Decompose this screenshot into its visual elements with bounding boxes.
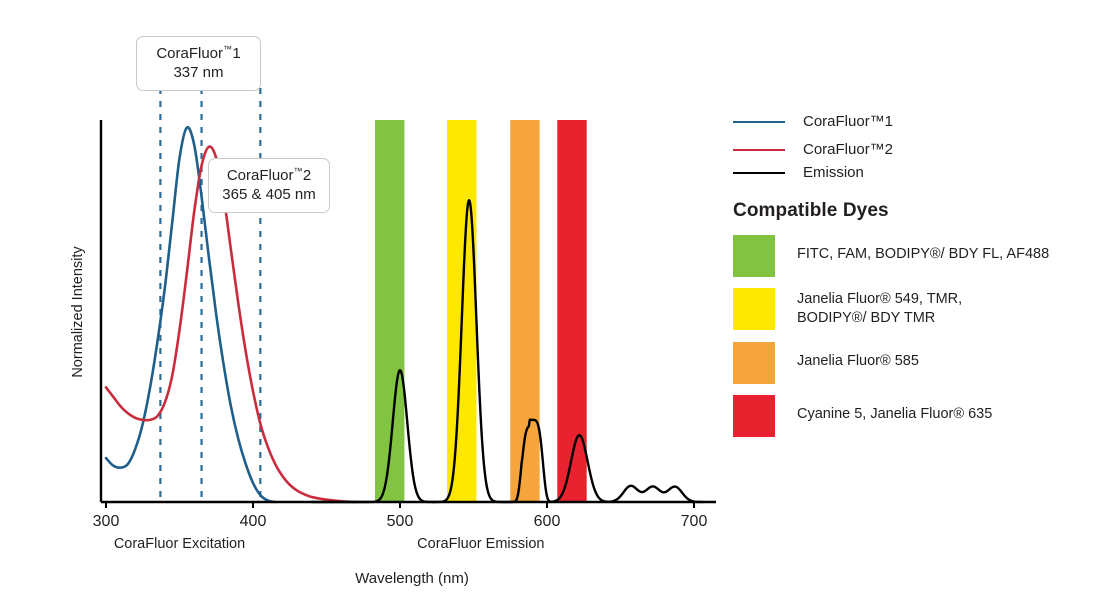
- callout-corafluor2: CoraFluor™2 365 & 405 nm: [208, 158, 330, 213]
- x-axis-title: Wavelength (nm): [355, 570, 469, 587]
- dye-item-green: FITC, FAM, BODIPY®/ BDY FL, AF488: [733, 235, 1049, 277]
- dye-swatch-red: [733, 395, 775, 437]
- compatible-dyes-heading: Compatible Dyes: [733, 200, 889, 222]
- callout-1-line1: CoraFluor™1: [149, 44, 248, 63]
- legend-item-emission: Emission: [733, 164, 864, 181]
- legend-item-corafluor2: CoraFluor™2: [733, 141, 893, 158]
- dye-swatch-orange: [733, 342, 775, 384]
- dye-label: FITC, FAM, BODIPY®/ BDY FL, AF488: [797, 235, 1049, 264]
- legend-line-icon: [733, 172, 785, 174]
- callout-corafluor1: CoraFluor™1 337 nm: [136, 36, 261, 91]
- x-tick-label-700: 700: [681, 513, 708, 530]
- dye-item-orange: Janelia Fluor® 585: [733, 342, 919, 384]
- legend-label: CoraFluor™1: [803, 113, 893, 130]
- axis-sub-label-excitation: CoraFluor Excitation: [114, 536, 245, 552]
- callout-2-line1: CoraFluor™2: [221, 166, 317, 185]
- dye-swatch-yellow: [733, 288, 775, 330]
- dye-label: Janelia Fluor® 549, TMR,BODIPY®/ BDY TMR: [797, 288, 962, 328]
- chart-root: 300400500600700CoraFluor ExcitationCoraF…: [0, 0, 1110, 612]
- x-tick-label-600: 600: [534, 513, 561, 530]
- legend-panel: CoraFluor™1 CoraFluor™2 Emission Compati…: [730, 0, 1110, 612]
- callout-1-line2: 337 nm: [149, 63, 248, 82]
- dye-swatch-green: [733, 235, 775, 277]
- dye-label: Janelia Fluor® 585: [797, 342, 919, 371]
- legend-label: CoraFluor™2: [803, 141, 893, 158]
- x-tick-label-500: 500: [387, 513, 414, 530]
- callout-2-line2: 365 & 405 nm: [221, 185, 317, 204]
- curve-emission: [312, 200, 703, 502]
- y-axis-title: Normalized Intensity: [70, 246, 86, 378]
- x-tick-label-400: 400: [240, 513, 267, 530]
- dye-item-red: Cyanine 5, Janelia Fluor® 635: [733, 395, 992, 437]
- axis-sub-label-emission: CoraFluor Emission: [417, 536, 544, 552]
- legend-line-icon: [733, 149, 785, 151]
- x-tick-label-300: 300: [93, 513, 120, 530]
- emission-band-red: [557, 120, 586, 502]
- plot-area: 300400500600700CoraFluor ExcitationCoraF…: [0, 0, 730, 612]
- legend-item-corafluor1: CoraFluor™1: [733, 113, 893, 130]
- legend-line-icon: [733, 121, 785, 123]
- legend-label: Emission: [803, 164, 864, 181]
- dye-label: Cyanine 5, Janelia Fluor® 635: [797, 395, 992, 424]
- spectra-plot: 300400500600700CoraFluor ExcitationCoraF…: [0, 0, 730, 612]
- dye-item-yellow: Janelia Fluor® 549, TMR,BODIPY®/ BDY TMR: [733, 288, 962, 330]
